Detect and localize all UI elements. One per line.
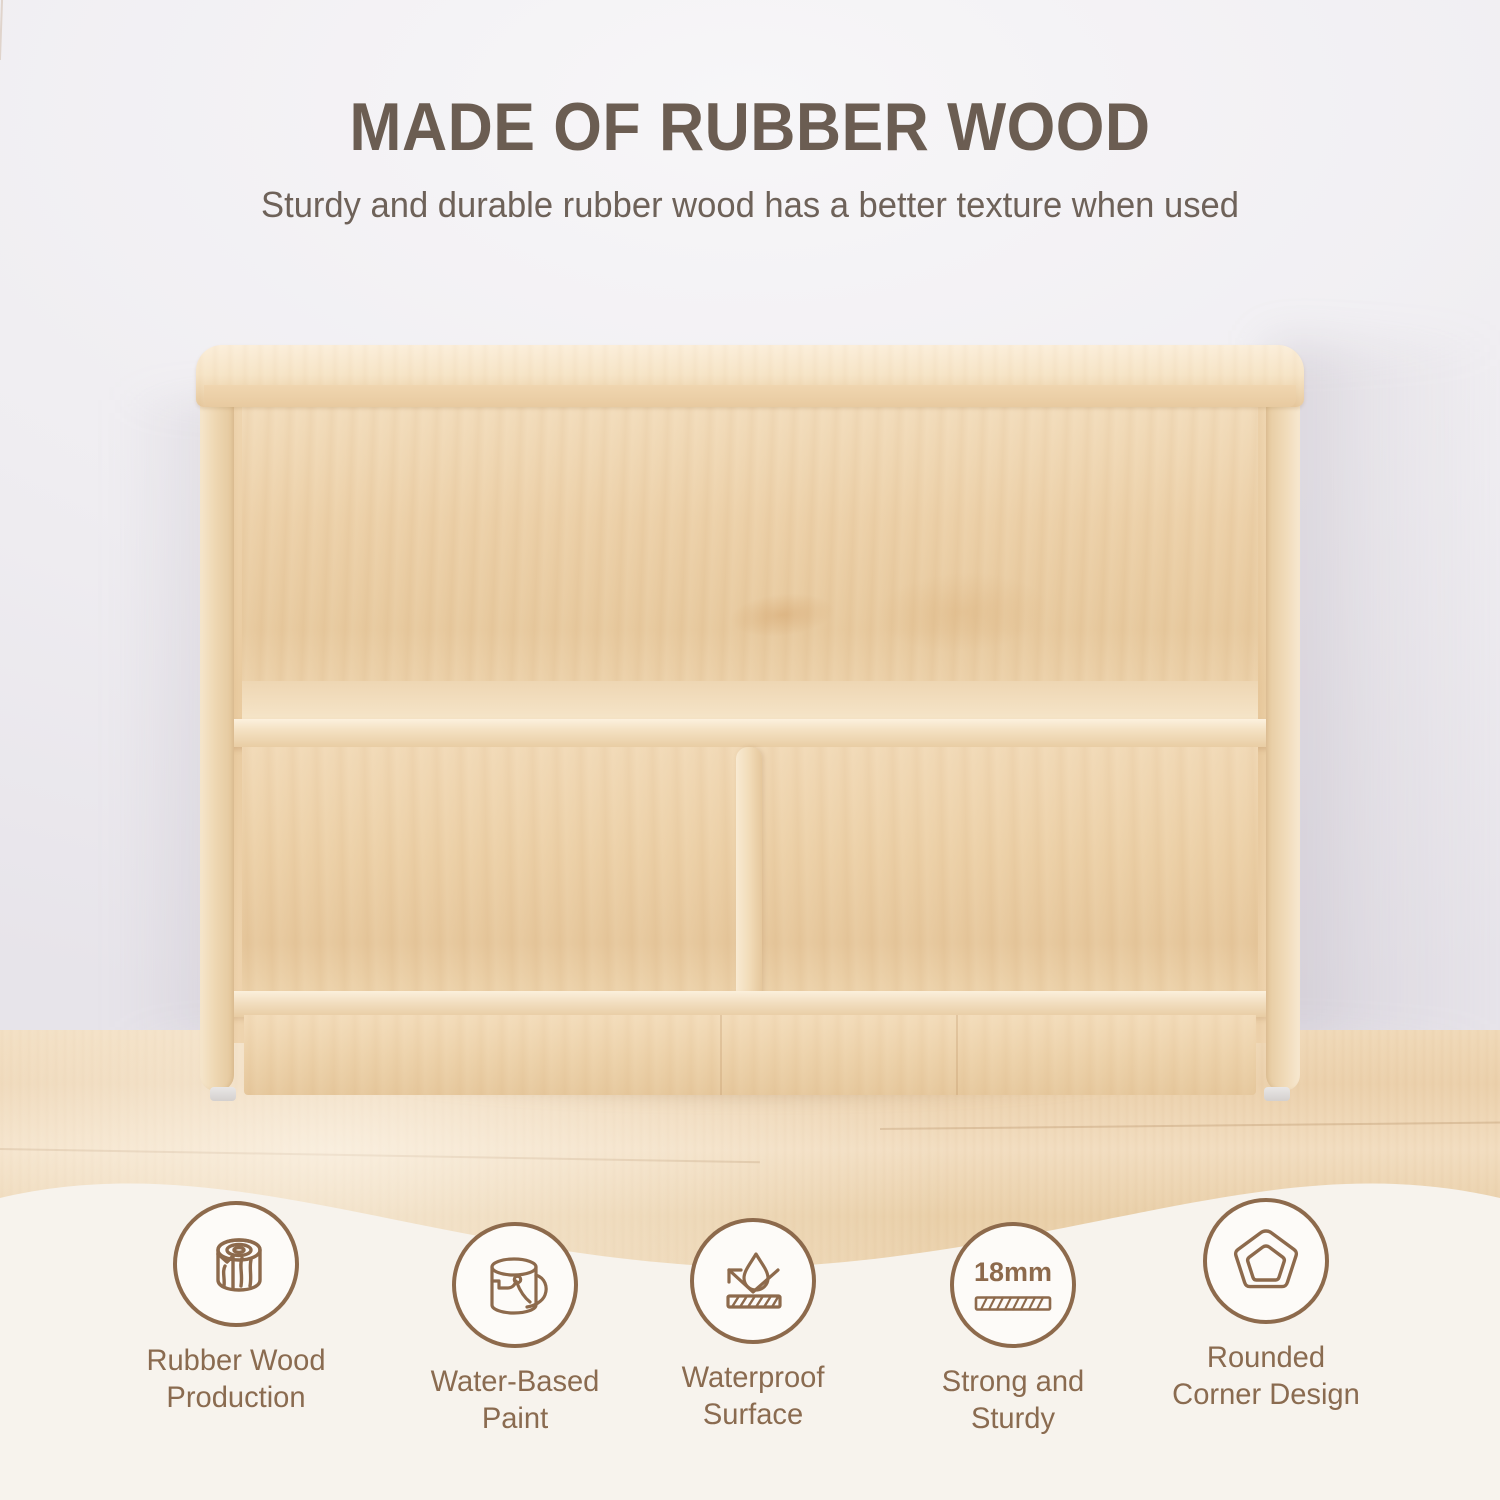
feature-icon-circle bbox=[1203, 1198, 1329, 1324]
thickness-value: 18mm bbox=[974, 1257, 1052, 1288]
product-infographic: MADE OF RUBBER WOOD Sturdy and durable r… bbox=[0, 0, 1500, 1500]
plank-hatch-icon bbox=[974, 1295, 1052, 1313]
feature-item-rounded-corner-design[interactable]: RoundedCorner Design bbox=[1141, 1198, 1391, 1413]
waterproof-droplet-icon bbox=[712, 1240, 794, 1322]
log-icon bbox=[196, 1224, 276, 1304]
paint-can-icon bbox=[475, 1245, 555, 1325]
feature-row: Rubber WoodProduction Water-BasedPaint bbox=[0, 0, 1500, 1500]
feature-icon-circle: 18mm bbox=[950, 1222, 1076, 1348]
feature-label: Strong andSturdy bbox=[892, 1364, 1135, 1437]
feature-item-water-based-paint[interactable]: Water-BasedPaint bbox=[390, 1222, 640, 1437]
feature-label: Water-BasedPaint bbox=[394, 1364, 637, 1437]
feature-icon-circle bbox=[452, 1222, 578, 1348]
feature-icon-circle bbox=[690, 1218, 816, 1344]
rounded-pentagon-icon bbox=[1226, 1221, 1306, 1301]
thickness-18mm-icon: 18mm bbox=[974, 1257, 1052, 1313]
feature-item-strong-and-sturdy[interactable]: 18mm Strong andSturdy bbox=[888, 1222, 1138, 1437]
feature-item-rubber-wood-production[interactable]: Rubber WoodProduction bbox=[111, 1201, 361, 1416]
feature-label: RoundedCorner Design bbox=[1145, 1340, 1388, 1413]
feature-label: WaterproofSurface bbox=[632, 1360, 875, 1433]
feature-item-waterproof-surface[interactable]: WaterproofSurface bbox=[628, 1218, 878, 1433]
feature-label: Rubber WoodProduction bbox=[115, 1343, 358, 1416]
feature-icon-circle bbox=[173, 1201, 299, 1327]
